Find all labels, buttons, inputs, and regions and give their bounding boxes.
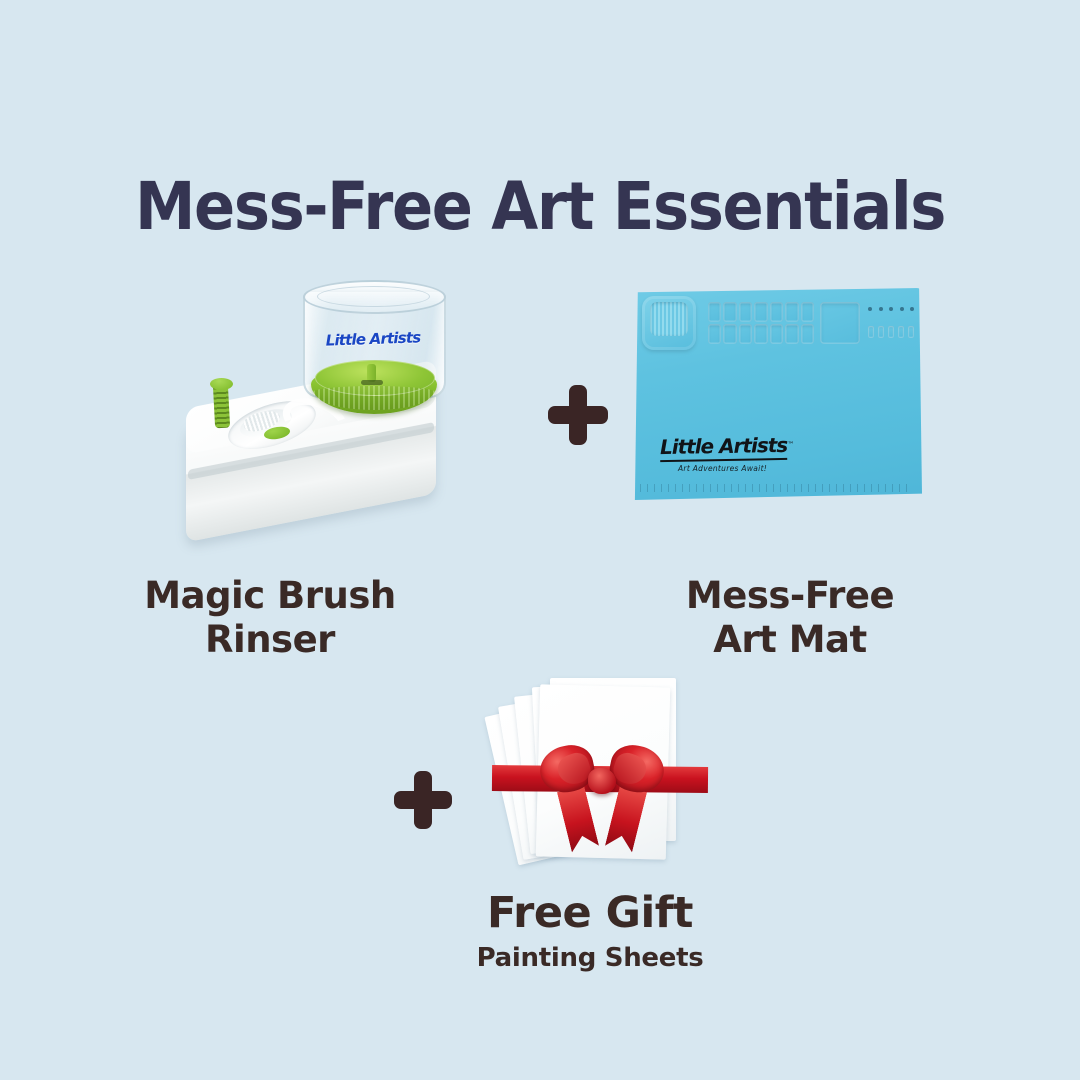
art-mat-well	[770, 324, 783, 344]
art-mat-brush-slots	[868, 326, 914, 340]
art-mat-well	[801, 302, 814, 322]
caption-brush-rinser-line1: Magic Brush	[60, 574, 480, 618]
poster-canvas: Mess-Free Art Essentials Little Artists …	[0, 0, 1080, 1080]
art-mat-well	[723, 302, 736, 322]
gift-bow-knot	[588, 768, 616, 794]
rinser-spring-cap	[210, 378, 233, 390]
art-mat-dot-row	[868, 304, 914, 314]
art-mat-well	[723, 324, 736, 344]
art-mat-well	[785, 324, 798, 344]
art-mat-brush-slot	[908, 326, 914, 338]
product-image-art-mat: Little Artists™ Art Adventures Await!	[632, 288, 932, 506]
gift-ribbon-bow	[538, 738, 666, 854]
art-mat-brand-block: Little Artists™ Art Adventures Await!	[660, 434, 800, 473]
art-mat-well	[708, 324, 721, 344]
art-mat-brush-slot	[898, 326, 904, 338]
caption-art-mat-line1: Mess-Free	[590, 574, 990, 618]
art-mat-dot	[868, 307, 872, 311]
art-mat-well	[754, 324, 767, 344]
art-mat-well	[739, 302, 752, 322]
plus-icon-2	[394, 771, 452, 829]
art-mat-well	[770, 302, 783, 322]
art-mat-well	[801, 324, 814, 344]
art-mat-well	[739, 324, 752, 344]
art-mat-mixing-palette	[820, 302, 860, 344]
art-mat-dot	[910, 307, 914, 311]
art-mat-dot	[889, 307, 893, 311]
product-image-brush-rinser: Little Artists	[178, 272, 478, 564]
art-mat-tool-tray	[642, 298, 914, 346]
art-mat-paint-wells	[708, 302, 814, 344]
product-image-free-gift	[492, 662, 708, 878]
art-mat-brush-slot	[888, 326, 894, 338]
page-title: Mess-Free Art Essentials	[43, 168, 1037, 245]
caption-brush-rinser-line2: Rinser	[60, 618, 480, 662]
art-mat-well	[708, 302, 721, 322]
plus-icon-2-vertical	[414, 771, 432, 829]
art-mat-brand-tagline: Art Adventures Await!	[678, 464, 800, 473]
art-mat-ruler-edge	[640, 484, 912, 492]
gift-ribbon-tail-left	[557, 786, 599, 853]
caption-free-gift-title: Free Gift	[420, 888, 760, 939]
caption-brush-rinser: Magic Brush Rinser	[60, 574, 480, 661]
art-mat-brush-slot	[878, 326, 884, 338]
rinser-green-spring	[213, 384, 230, 429]
art-mat-trademark: ™	[787, 441, 794, 449]
art-mat-dot	[879, 307, 883, 311]
rinser-brand-logo: Little Artists	[325, 328, 422, 349]
art-mat-brand-logo: Little Artists	[660, 433, 788, 462]
rinser-water-jar: Little Artists	[299, 282, 446, 404]
gift-ribbon-tail-right	[605, 786, 647, 853]
plus-icon-1	[548, 385, 608, 445]
caption-art-mat: Mess-Free Art Mat	[590, 574, 990, 661]
art-mat-well	[785, 302, 798, 322]
caption-free-gift-subtitle: Painting Sheets	[420, 943, 760, 974]
art-mat-dot	[900, 307, 904, 311]
rinser-brush-slot	[361, 380, 383, 385]
rinser-jar-inner-rim	[317, 286, 430, 307]
caption-art-mat-line2: Art Mat	[590, 618, 990, 662]
art-mat-rinse-cup-texture	[650, 302, 688, 336]
art-mat-brush-slot	[868, 326, 874, 338]
plus-icon-1-vertical	[569, 385, 587, 445]
art-mat-rinse-cup	[642, 296, 696, 350]
art-mat-well	[754, 302, 767, 322]
caption-free-gift: Free Gift Painting Sheets	[420, 888, 760, 973]
